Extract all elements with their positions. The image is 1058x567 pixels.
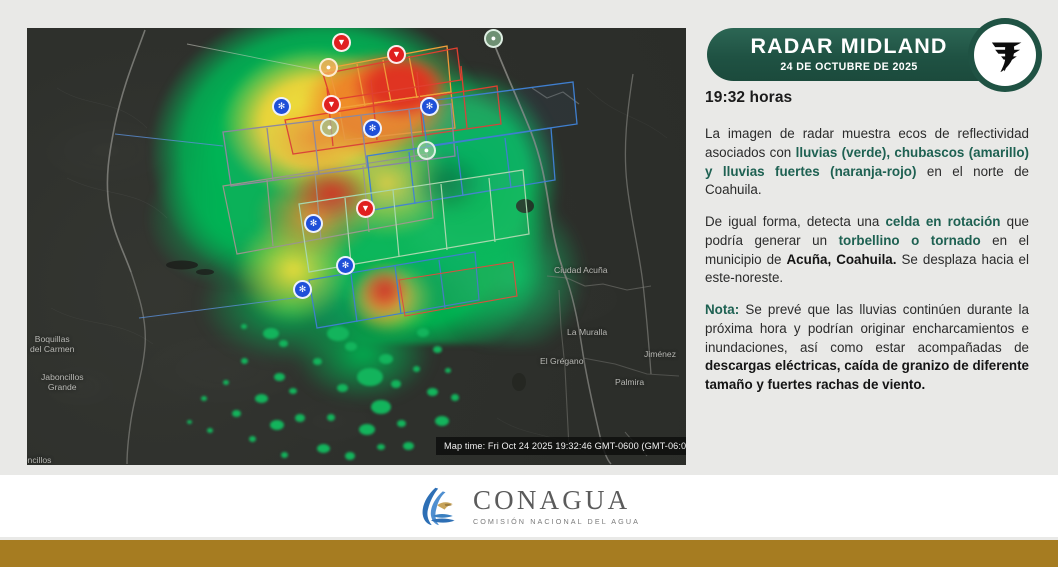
place-label: Palmira [615, 377, 644, 387]
place-label: Jiménez [644, 349, 676, 359]
gold-accent-bar [0, 540, 1058, 567]
p2-highlight-tornado: torbellino o tornado [839, 233, 981, 248]
storm-marker-green[interactable]: ● [417, 141, 436, 160]
place-label: La Muralla [567, 327, 607, 337]
storm-marker-green[interactable]: ● [320, 118, 339, 137]
tornado-icon [984, 34, 1026, 76]
storm-marker-hail[interactable]: ✻ [420, 97, 439, 116]
storm-marker-tornado[interactable]: ▼ [387, 45, 406, 64]
p2-text-a: De igual forma, detecta una [705, 214, 885, 229]
storm-marker-tornado[interactable]: ▼ [322, 95, 341, 114]
p2-bold-municipio: Acuña, Coahuila. [787, 252, 897, 267]
conagua-wordmark: CONAGUA [473, 487, 640, 514]
place-label: Ciudad Acuña [554, 265, 608, 275]
conagua-water-icon [418, 485, 462, 527]
storm-marker-hail[interactable]: ✻ [304, 214, 323, 233]
conagua-logo: CONAGUA COMISIÓN NACIONAL DEL AGUA [418, 485, 640, 527]
p3-note-label: Nota: [705, 302, 739, 317]
radar-map[interactable]: ▼▼●✻✻●▼●✻▼✻✻✻● Boquillasdel CarmenJabonc… [27, 28, 686, 465]
info-panel: RADAR MIDLAND 24 DE OCTUBRE DE 2025 19:3… [700, 0, 1058, 475]
paragraph-2: De igual forma, detecta una celda en rot… [705, 213, 1029, 288]
radar-title-pill: RADAR MIDLAND 24 DE OCTUBRE DE 2025 [707, 28, 1007, 81]
storm-marker-hail[interactable]: ✻ [336, 256, 355, 275]
tornado-logo-badge [968, 18, 1042, 92]
storm-marker-orange[interactable]: ● [319, 58, 338, 77]
storm-marker-hail[interactable]: ✻ [293, 280, 312, 299]
radar-title: RADAR MIDLAND [750, 36, 947, 58]
storm-marker-green[interactable]: ● [484, 29, 503, 48]
map-timestamp: Map time: Fri Oct 24 2025 19:32:46 GMT-0… [436, 437, 686, 455]
paragraph-3: Nota: Se prevé que las lluvias continúen… [705, 301, 1029, 395]
place-label: JaboncillosGrande [41, 372, 84, 393]
storm-marker-tornado[interactable]: ▼ [332, 33, 351, 52]
storm-marker-tornado[interactable]: ▼ [356, 199, 375, 218]
p2-highlight-rotacion: celda en rotación [885, 214, 1000, 229]
storm-marker-hail[interactable]: ✻ [272, 97, 291, 116]
p3-text-a: Se prevé que las lluvias continúen duran… [705, 302, 1029, 355]
observation-time: 19:32 horas [705, 89, 792, 107]
p3-bold-hazards: descargas eléctricas, caída de granizo d… [705, 358, 1029, 392]
radar-date: 24 DE OCTUBRE DE 2025 [780, 62, 917, 73]
report-body: La imagen de radar muestra ecos de refle… [705, 125, 1029, 395]
place-label: El Grégano [540, 356, 583, 366]
storm-track-polygons [27, 28, 686, 465]
place-label: boncillos [27, 455, 51, 465]
footer-band: CONAGUA COMISIÓN NACIONAL DEL AGUA [0, 475, 1058, 537]
storm-marker-hail[interactable]: ✻ [363, 119, 382, 138]
paragraph-1: La imagen de radar muestra ecos de refle… [705, 125, 1029, 200]
place-label: Boquillasdel Carmen [30, 334, 74, 355]
infographic-poster: ▼▼●✻✻●▼●✻▼✻✻✻● Boquillasdel CarmenJabonc… [0, 0, 1058, 567]
conagua-tagline: COMISIÓN NACIONAL DEL AGUA [473, 518, 640, 525]
